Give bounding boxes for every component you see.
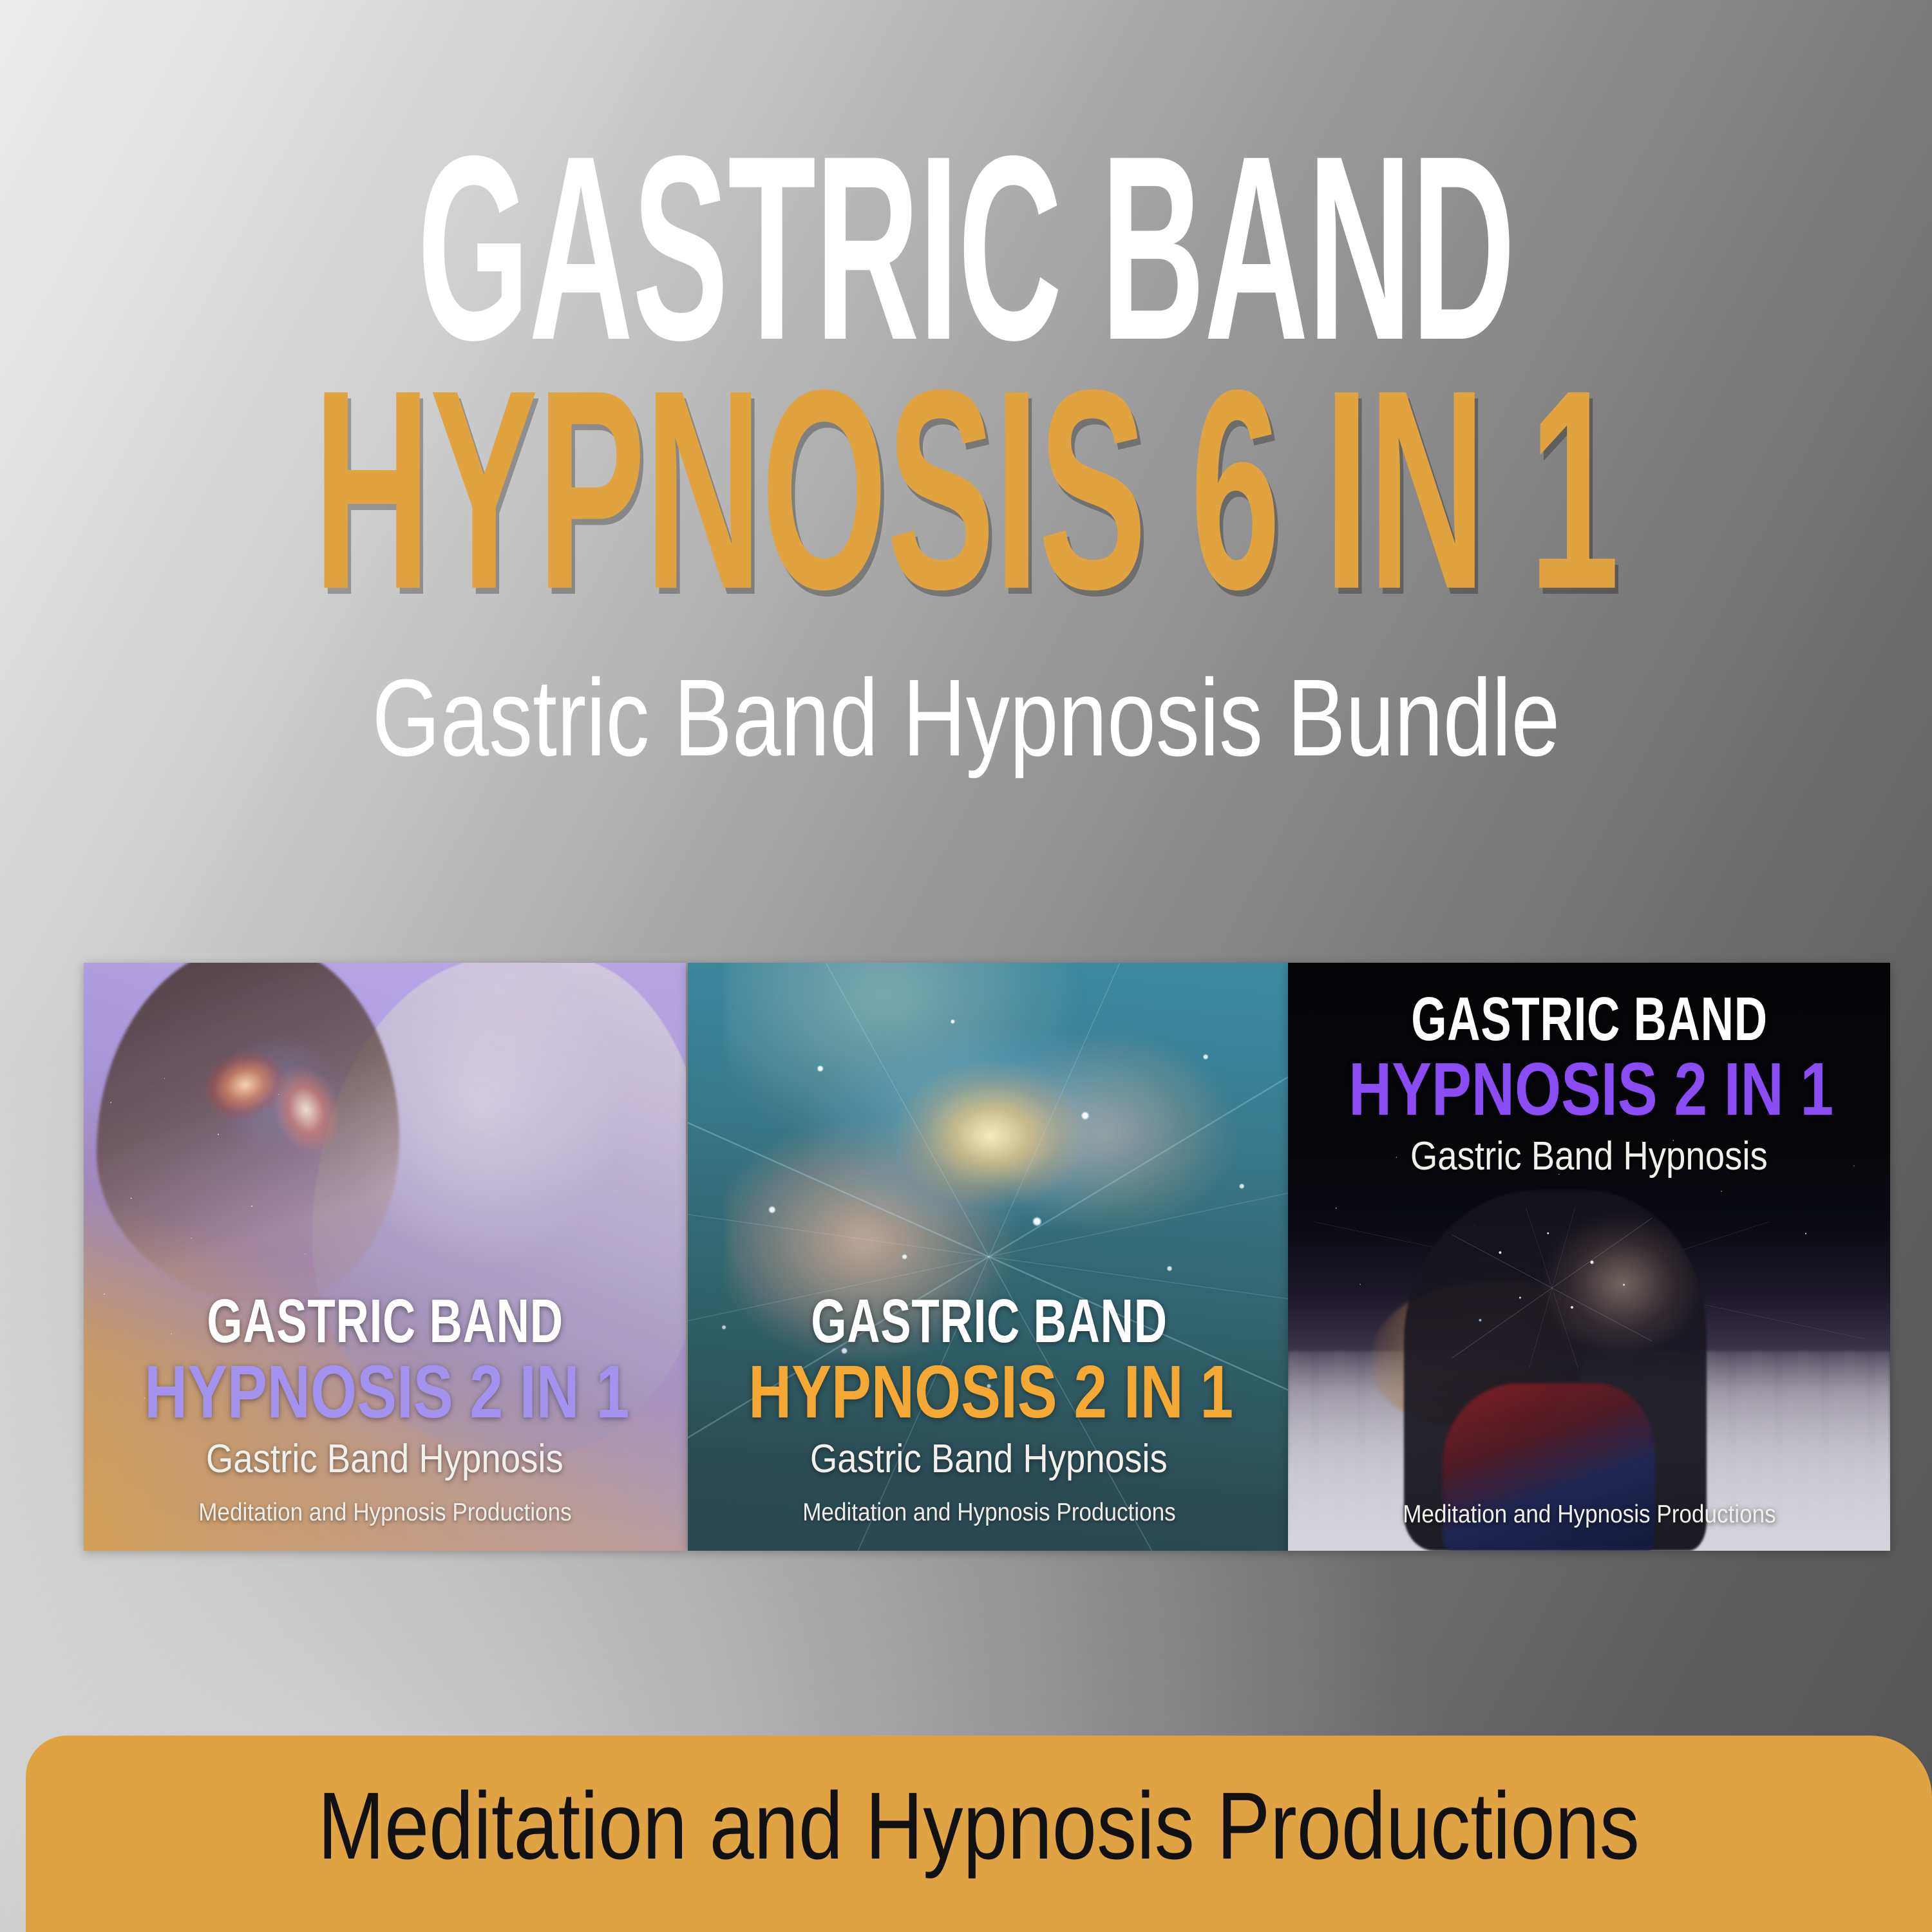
thumbnail-author: Meditation and Hypnosis Productions xyxy=(1288,1501,1890,1529)
bundle-thumbnail[interactable]: GASTRIC BAND HYPNOSIS 2 IN 1 Gastric Ban… xyxy=(688,963,1290,1551)
author-banner-label: Meditation and Hypnosis Productions xyxy=(192,1779,1765,1874)
thumbnail-title-line2: HYPNOSIS 2 IN 1 xyxy=(1288,1054,1890,1124)
thumbnail-author: Meditation and Hypnosis Productions xyxy=(84,1499,686,1528)
thumbnail-subtitle: Gastric Band Hypnosis xyxy=(84,1436,686,1482)
author-banner: Meditation and Hypnosis Productions xyxy=(26,1736,1932,1932)
bundle-thumbnail-row: GASTRIC BAND HYPNOSIS 2 IN 1 Gastric Ban… xyxy=(0,963,1932,1552)
thumbnail-author: Meditation and Hypnosis Productions xyxy=(688,1499,1290,1528)
audiobook-cover: GASTRIC BAND HYPNOSIS 6 IN 1 Gastric Ban… xyxy=(0,0,1932,1932)
thumbnail-title-line1: GASTRIC BAND xyxy=(688,1292,1290,1350)
thumbnail-subtitle: Gastric Band Hypnosis xyxy=(1288,1133,1890,1179)
thumbnail-text-block: GASTRIC BAND HYPNOSIS 2 IN 1 Gastric Ban… xyxy=(1288,990,1890,1180)
thumbnail-text-block: GASTRIC BAND HYPNOSIS 2 IN 1 Gastric Ban… xyxy=(688,1292,1290,1528)
cover-subtitle: Gastric Band Hypnosis Bundle xyxy=(223,663,1709,773)
author-banner-text: Meditation and Hypnosis Productions xyxy=(318,1779,1640,1874)
mind-network-overlay xyxy=(1452,1207,1652,1368)
thumbnail-title-line1: GASTRIC BAND xyxy=(1288,990,1890,1048)
thumbnail-title-line2: HYPNOSIS 2 IN 1 xyxy=(84,1356,686,1427)
cover-title-main: GASTRIC BAND xyxy=(0,143,1932,349)
cover-subtitle-text: Gastric Band Hypnosis Bundle xyxy=(372,663,1560,773)
cover-title-accent: HYPNOSIS 6 IN 1 xyxy=(0,377,1932,593)
thumbnail-subtitle: Gastric Band Hypnosis xyxy=(688,1436,1290,1482)
bundle-thumbnail[interactable]: GASTRIC BAND HYPNOSIS 2 IN 1 Gastric Ban… xyxy=(84,963,686,1551)
cover-title-main-text: GASTRIC BAND xyxy=(417,143,1515,353)
thumbnail-title-line2: HYPNOSIS 2 IN 1 xyxy=(688,1356,1290,1427)
thumbnail-text-block: GASTRIC BAND HYPNOSIS 2 IN 1 Gastric Ban… xyxy=(84,1292,686,1528)
thumbnail-title-line1: GASTRIC BAND xyxy=(84,1292,686,1350)
bundle-thumbnail[interactable]: GASTRIC BAND HYPNOSIS 2 IN 1 Gastric Ban… xyxy=(1288,963,1890,1551)
cover-title-accent-text: HYPNOSIS 6 IN 1 xyxy=(314,377,1619,604)
